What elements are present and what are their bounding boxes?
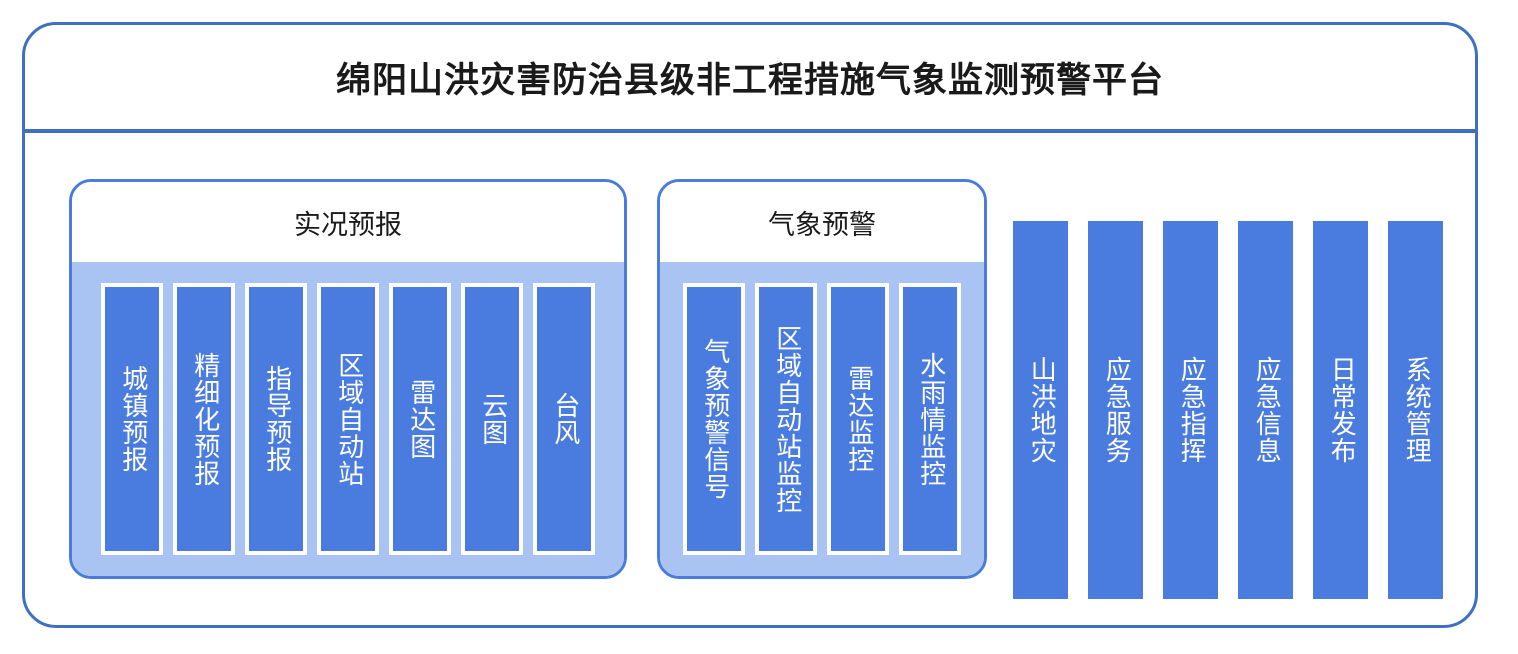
module-column-ying-ji-xin-xi[interactable]: 应急信息	[1238, 221, 1293, 599]
module-item-label: 气象预警信号	[700, 338, 728, 500]
group-items-weather-alert: 气象预警信号 区域自动站监控 雷达监控 水雨情监控	[660, 262, 984, 576]
module-column-label: 应急信息	[1252, 356, 1280, 464]
group-box-weather-alert: 气象预警 气象预警信号 区域自动站监控 雷达监控 水雨情监控	[657, 179, 987, 579]
module-item-yun-tu[interactable]: 云图	[461, 283, 523, 555]
module-item-jing-xi-hua-yu-bao[interactable]: 精细化预报	[173, 283, 235, 555]
group-box-live-forecast: 实况预报 城镇预报 精细化预报 指导预报 区域自动站 雷达图	[69, 179, 627, 579]
module-item-label: 台风	[550, 392, 578, 446]
page-title: 绵阳山洪灾害防治县级非工程措施气象监测预警平台	[336, 52, 1164, 103]
module-item-qu-yu-zi-dong-zhan[interactable]: 区域自动站	[317, 283, 379, 555]
module-column-label: 山洪地灾	[1027, 356, 1055, 464]
title-bar: 绵阳山洪灾害防治县级非工程措施气象监测预警平台	[25, 25, 1475, 133]
module-column-label: 系统管理	[1402, 356, 1430, 464]
module-item-tai-feng[interactable]: 台风	[533, 283, 595, 555]
group-items-live-forecast: 城镇预报 精细化预报 指导预报 区域自动站 雷达图 云图 台风	[72, 262, 624, 576]
group-header-weather-alert: 气象预警	[660, 182, 984, 262]
module-item-label: 水雨情监控	[916, 352, 944, 487]
module-item-label: 区域自动站监控	[772, 325, 800, 514]
module-item-qi-xiang-yu-jing-xin-hao[interactable]: 气象预警信号	[683, 283, 745, 555]
module-column-label: 应急指挥	[1177, 356, 1205, 464]
standalone-modules: 山洪地灾 应急服务 应急指挥 应急信息 日常发布 系统管理	[1013, 221, 1475, 599]
module-item-lei-da-jian-kong[interactable]: 雷达监控	[827, 283, 889, 555]
module-item-label: 城镇预报	[118, 365, 146, 473]
module-item-label: 指导预报	[262, 365, 290, 473]
module-column-label: 日常发布	[1327, 356, 1355, 464]
module-item-label: 雷达图	[406, 379, 434, 460]
module-column-label: 应急服务	[1102, 356, 1130, 464]
module-column-shan-hong-di-zai[interactable]: 山洪地灾	[1013, 221, 1068, 599]
module-column-xi-tong-guan-li[interactable]: 系统管理	[1388, 221, 1443, 599]
frame-body: 实况预报 城镇预报 精细化预报 指导预报 区域自动站 雷达图	[25, 133, 1475, 625]
group-header-live-forecast: 实况预报	[72, 182, 624, 262]
module-column-ying-ji-fu-wu[interactable]: 应急服务	[1088, 221, 1143, 599]
module-column-ri-chang-fa-bu[interactable]: 日常发布	[1313, 221, 1368, 599]
module-item-cheng-zhen-yu-bao[interactable]: 城镇预报	[101, 283, 163, 555]
module-item-label: 精细化预报	[190, 352, 218, 487]
module-item-qu-yu-zi-dong-zhan-jian-kong[interactable]: 区域自动站监控	[755, 283, 817, 555]
group-header-label: 气象预警	[768, 203, 876, 242]
module-item-shui-yu-qing-jian-kong[interactable]: 水雨情监控	[899, 283, 961, 555]
module-item-zhi-dao-yu-bao[interactable]: 指导预报	[245, 283, 307, 555]
module-item-label: 云图	[478, 392, 506, 446]
module-column-ying-ji-zhi-hui[interactable]: 应急指挥	[1163, 221, 1218, 599]
module-item-label: 区域自动站	[334, 352, 362, 487]
group-header-label: 实况预报	[294, 203, 402, 242]
module-item-label: 雷达监控	[844, 365, 872, 473]
module-item-lei-da-tu[interactable]: 雷达图	[389, 283, 451, 555]
platform-frame: 绵阳山洪灾害防治县级非工程措施气象监测预警平台 实况预报 城镇预报 精细化预报 …	[22, 22, 1478, 628]
